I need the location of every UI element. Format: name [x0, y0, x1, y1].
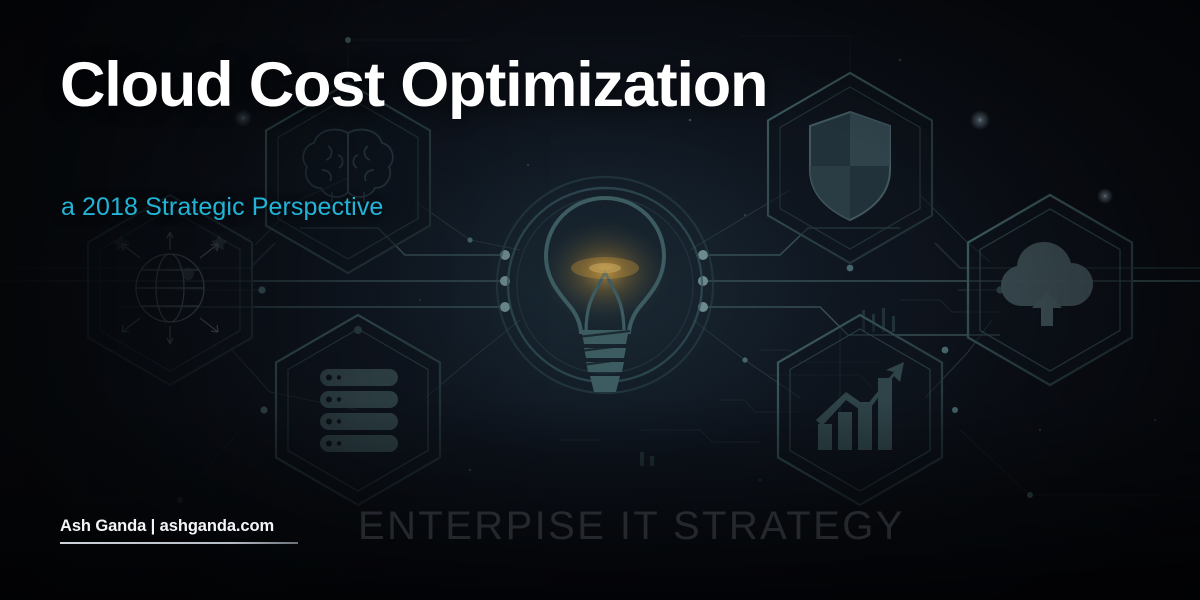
byline-underline-rule: [60, 542, 298, 544]
author-byline[interactable]: Ash Ganda | ashganda.com: [60, 517, 300, 536]
byline-block: Ash Ganda | ashganda.com: [60, 517, 300, 544]
page-subtitle: a 2018 Strategic Perspective: [61, 193, 383, 222]
banner-root: ENTERPISE IT STRATEGY Cloud Cost Optimiz…: [0, 0, 1200, 600]
page-title: Cloud Cost Optimization: [60, 52, 767, 118]
background-watermark-text: ENTERPISE IT STRATEGY: [358, 504, 905, 549]
text-layer: ENTERPISE IT STRATEGY Cloud Cost Optimiz…: [0, 0, 1200, 600]
